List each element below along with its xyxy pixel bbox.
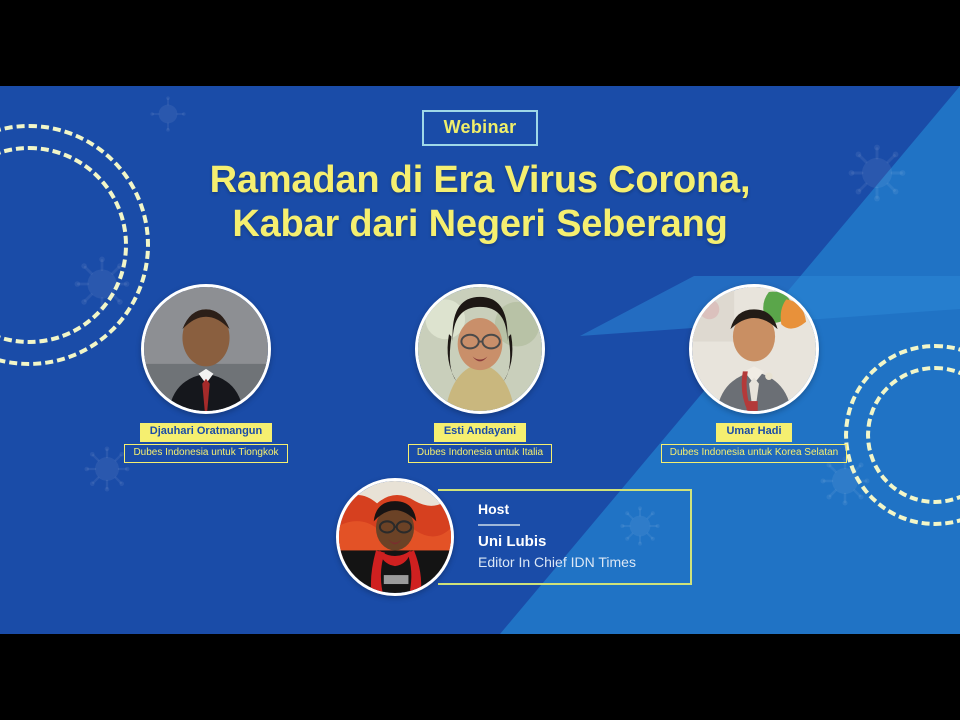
title-line-2: Kabar dari Negeri Seberang	[0, 202, 960, 246]
host-avatar	[336, 478, 454, 596]
avatar	[141, 284, 271, 414]
speaker-name: Esti Andayani	[434, 423, 526, 442]
speaker-item: Umar Hadi Dubes Indonesia untuk Korea Se…	[656, 284, 852, 463]
host-divider	[478, 524, 520, 526]
webinar-poster: Webinar Ramadan di Era Virus Corona, Kab…	[0, 86, 960, 634]
speaker-item: Djauhari Oratmangun Dubes Indonesia untu…	[108, 284, 304, 463]
host-block: Host Uni Lubis Editor In Chief IDN Times	[336, 478, 692, 596]
speaker-name: Umar Hadi	[716, 423, 791, 442]
host-card: Host Uni Lubis Editor In Chief IDN Times	[438, 489, 692, 585]
host-name: Uni Lubis	[478, 533, 668, 552]
webinar-badge: Webinar	[422, 110, 539, 146]
avatar	[415, 284, 545, 414]
letterbox-top	[0, 0, 960, 86]
host-label: Host	[478, 501, 668, 518]
badge-container: Webinar	[0, 110, 960, 146]
poster-content: Webinar Ramadan di Era Virus Corona, Kab…	[0, 86, 960, 634]
speaker-role: Dubes Indonesia untuk Italia	[408, 444, 552, 464]
speaker-name: Djauhari Oratmangun	[140, 423, 272, 442]
avatar	[689, 284, 819, 414]
screenshot-stage: Webinar Ramadan di Era Virus Corona, Kab…	[0, 0, 960, 720]
title-line-1: Ramadan di Era Virus Corona,	[0, 158, 960, 202]
speaker-role: Dubes Indonesia untuk Korea Selatan	[661, 444, 847, 464]
speaker-list: Djauhari Oratmangun Dubes Indonesia untu…	[0, 284, 960, 463]
speaker-item: Esti Andayani Dubes Indonesia untuk Ital…	[382, 284, 578, 463]
speaker-role: Dubes Indonesia untuk Tiongkok	[124, 444, 287, 464]
host-role: Editor In Chief IDN Times	[478, 553, 668, 571]
letterbox-bottom	[0, 634, 960, 720]
page-title: Ramadan di Era Virus Corona, Kabar dari …	[0, 158, 960, 247]
